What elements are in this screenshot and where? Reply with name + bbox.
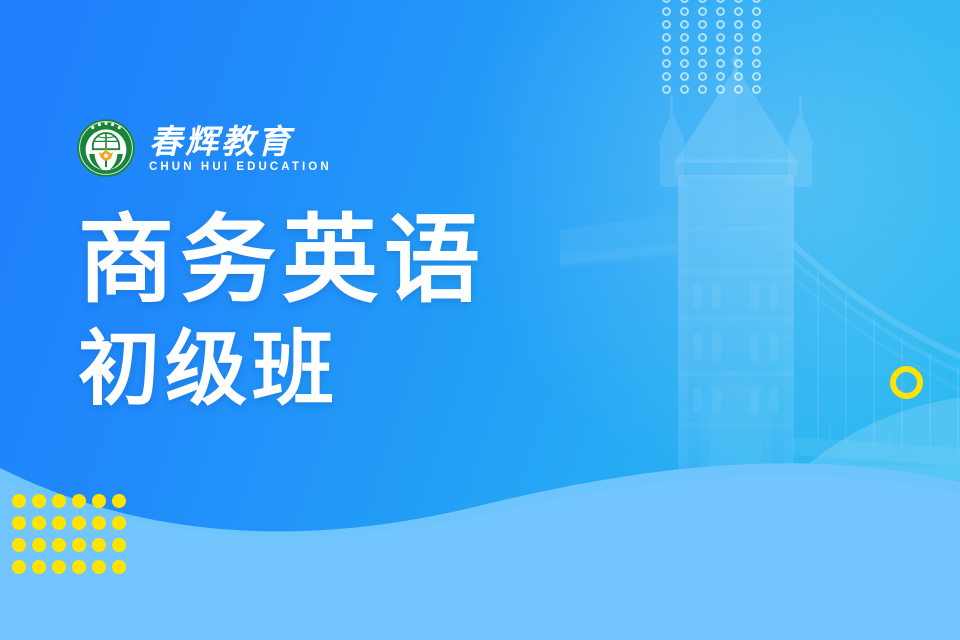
dot-grid-top-right <box>662 0 770 98</box>
dot <box>680 7 689 16</box>
dot <box>698 7 707 16</box>
dot <box>662 33 671 42</box>
dot <box>12 516 26 530</box>
brand-logo-text: 春辉教育 CHUN HUI EDUCATION <box>149 123 332 173</box>
dot <box>752 33 761 42</box>
dot <box>12 560 26 574</box>
dot <box>734 20 743 29</box>
dot <box>662 20 671 29</box>
dot <box>698 85 707 94</box>
dot <box>752 20 761 29</box>
dot <box>734 85 743 94</box>
dot <box>680 33 689 42</box>
dot <box>698 0 707 3</box>
accent-ring-icon <box>890 366 923 399</box>
dot-grid-bottom-left <box>12 494 132 582</box>
dot <box>716 7 725 16</box>
dot <box>52 516 66 530</box>
dot <box>752 72 761 81</box>
dot <box>662 7 671 16</box>
dot <box>680 0 689 3</box>
dot <box>698 59 707 68</box>
dot <box>32 516 46 530</box>
dot <box>662 72 671 81</box>
wave-shape <box>0 420 960 640</box>
brand-logo: 春辉教育 CHUN HUI EDUCATION <box>76 118 332 178</box>
dot <box>698 72 707 81</box>
course-headline: 商务英语 初级班 <box>78 207 598 419</box>
dot <box>92 538 106 552</box>
dot <box>716 20 725 29</box>
dot <box>72 560 86 574</box>
dot <box>752 59 761 68</box>
dot <box>716 85 725 94</box>
dot <box>32 538 46 552</box>
dot <box>698 33 707 42</box>
dot <box>52 538 66 552</box>
dot <box>92 516 106 530</box>
dot <box>680 72 689 81</box>
dot <box>52 494 66 508</box>
dot <box>662 85 671 94</box>
dot <box>734 72 743 81</box>
dot <box>734 46 743 55</box>
dot <box>72 494 86 508</box>
course-banner: 春辉教育 CHUN HUI EDUCATION 商务英语 初级班 <box>0 0 960 640</box>
dot <box>734 7 743 16</box>
dot <box>12 494 26 508</box>
dot <box>734 0 743 3</box>
dot <box>72 538 86 552</box>
dot <box>680 20 689 29</box>
dot <box>662 59 671 68</box>
dot <box>716 0 725 3</box>
dot <box>92 494 106 508</box>
dot <box>716 72 725 81</box>
dot <box>752 85 761 94</box>
dot <box>680 59 689 68</box>
dot <box>752 46 761 55</box>
decorative-arc <box>700 395 960 640</box>
dot <box>32 560 46 574</box>
dot <box>716 46 725 55</box>
dot <box>112 560 126 574</box>
dot <box>52 560 66 574</box>
brand-name-en: CHUN HUI EDUCATION <box>149 162 332 174</box>
course-title-sub: 初级班 <box>78 321 598 419</box>
dot <box>92 560 106 574</box>
dot <box>698 20 707 29</box>
dot <box>716 59 725 68</box>
dot <box>662 46 671 55</box>
dot <box>32 494 46 508</box>
dot <box>734 33 743 42</box>
chun-hui-education-emblem-icon <box>76 118 136 178</box>
dot <box>680 85 689 94</box>
tower-bridge-icon <box>560 55 960 525</box>
dot <box>12 538 26 552</box>
course-title-main: 商务英语 <box>78 207 598 315</box>
brand-name-cn: 春辉教育 <box>149 125 332 160</box>
dot <box>112 516 126 530</box>
dot <box>752 7 761 16</box>
dot <box>698 46 707 55</box>
dot <box>662 0 671 3</box>
dot <box>112 538 126 552</box>
dot <box>72 516 86 530</box>
dot <box>680 46 689 55</box>
dot <box>716 33 725 42</box>
dot <box>752 0 761 3</box>
dot <box>734 59 743 68</box>
dot <box>112 494 126 508</box>
